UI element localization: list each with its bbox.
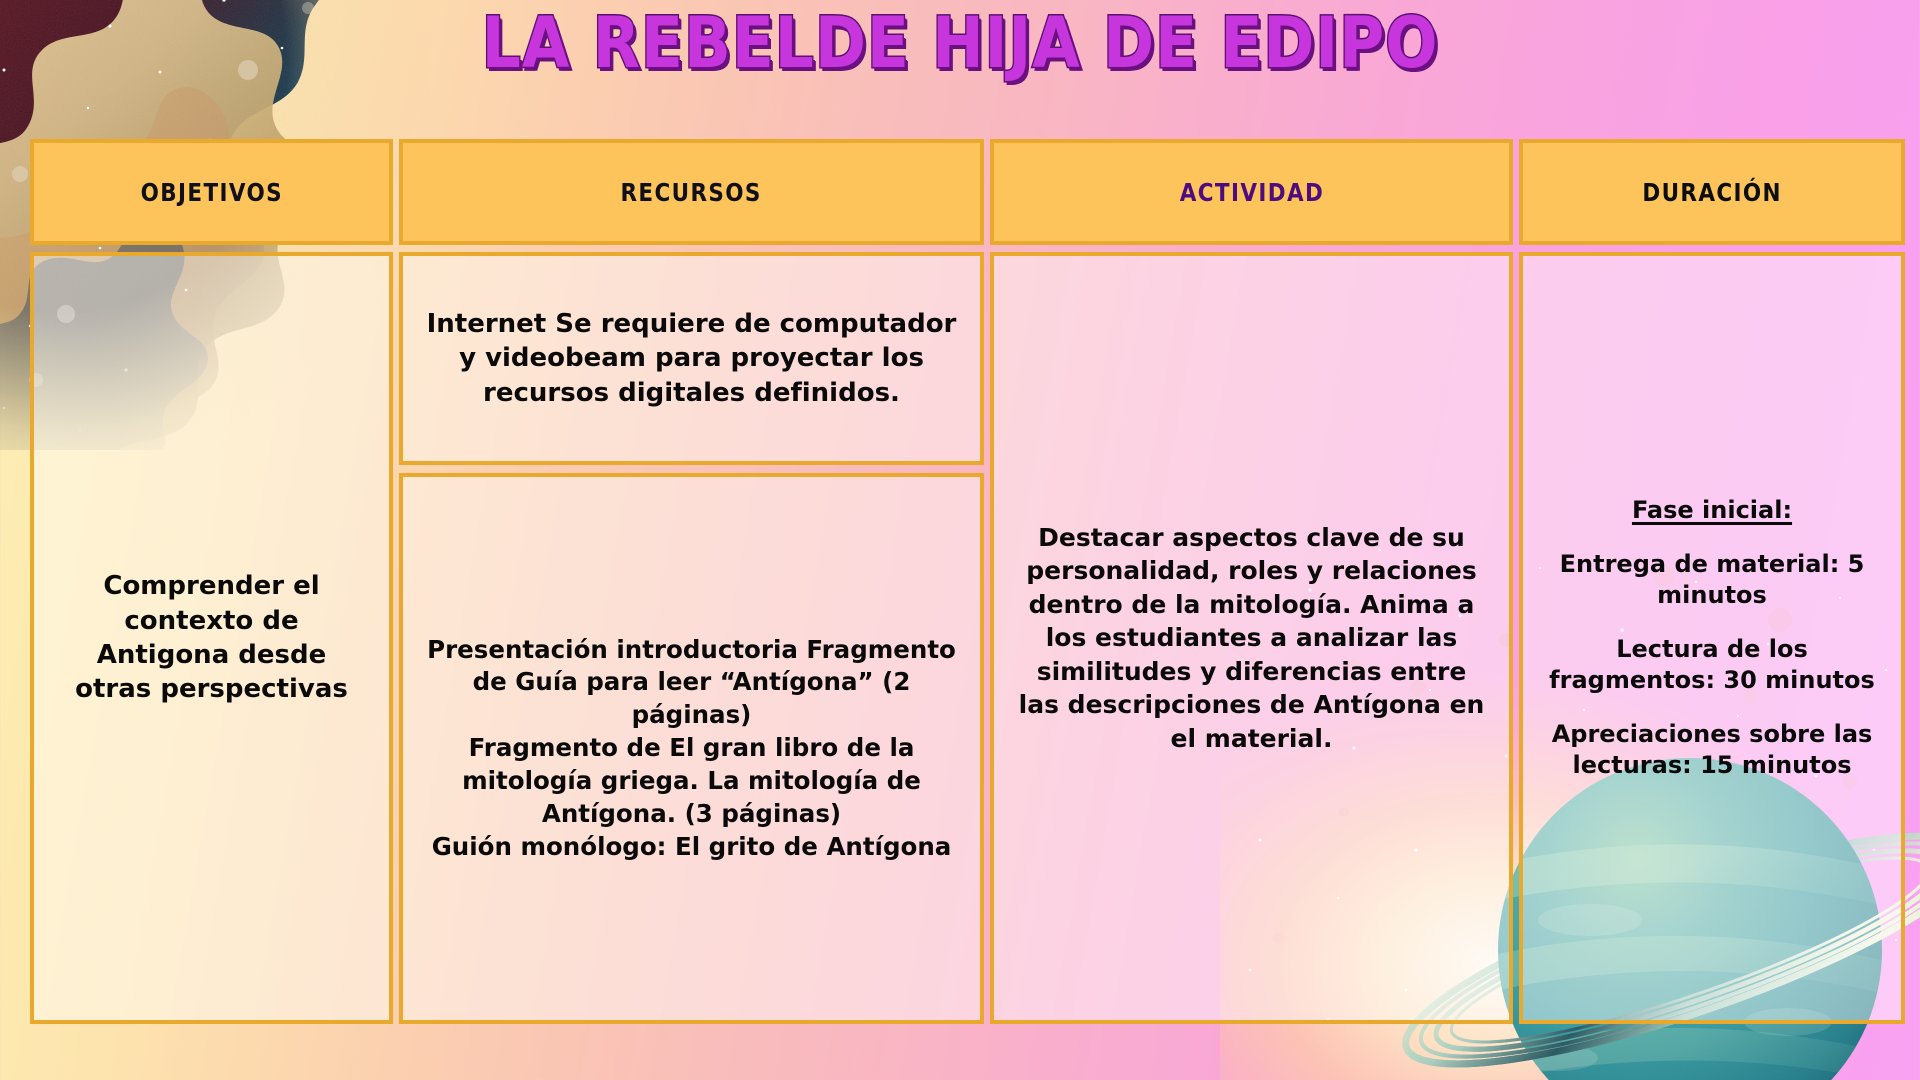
planner-table: OBJETIVOS RECURSOS ACTIVIDAD DURACIÓN Co…: [30, 139, 1887, 1024]
table-header-duracion-label: DURACIÓN: [1642, 178, 1782, 207]
table-header-recursos-label: RECURSOS: [621, 178, 762, 207]
recursos-line-2: Fragmento de El gran libro de la mitolog…: [425, 732, 958, 830]
table-header-actividad-label: ACTIVIDAD: [1179, 178, 1323, 207]
cell-recursos-column: Internet Se requiere de computador y vid…: [399, 252, 984, 1024]
duracion-heading: Fase inicial:: [1545, 495, 1879, 526]
cell-duracion: Fase inicial: Entrega de material: 5 min…: [1519, 252, 1905, 1024]
recursos-line-1: Presentación introductoria Fragmento de …: [425, 634, 958, 732]
cell-recursos-readings: Presentación introductoria Fragmento de …: [399, 473, 984, 1024]
cell-objetivos: Comprender el contexto de Antigona desde…: [30, 252, 393, 1024]
recursos-line-3: Guión monólogo: El grito de Antígona: [425, 831, 958, 864]
cell-actividad: Destacar aspectos clave de su personalid…: [990, 252, 1513, 1024]
table-header-duracion: DURACIÓN: [1519, 139, 1905, 245]
table-header-actividad: ACTIVIDAD: [990, 139, 1513, 245]
table-header-objetivos: OBJETIVOS: [30, 139, 393, 245]
duracion-item-3: Apreciaciones sobre las lecturas: 15 min…: [1545, 719, 1879, 781]
cell-recursos-materials: Internet Se requiere de computador y vid…: [399, 252, 984, 465]
table-header-recursos: RECURSOS: [399, 139, 984, 245]
page-title: LA REBELDE HIJA DE EDIPO: [115, 4, 1805, 82]
table-header-objetivos-label: OBJETIVOS: [140, 178, 282, 207]
duracion-item-1: Entrega de material: 5 minutos: [1545, 549, 1879, 611]
duracion-item-2: Lectura de los fragmentos: 30 minutos: [1545, 634, 1879, 696]
